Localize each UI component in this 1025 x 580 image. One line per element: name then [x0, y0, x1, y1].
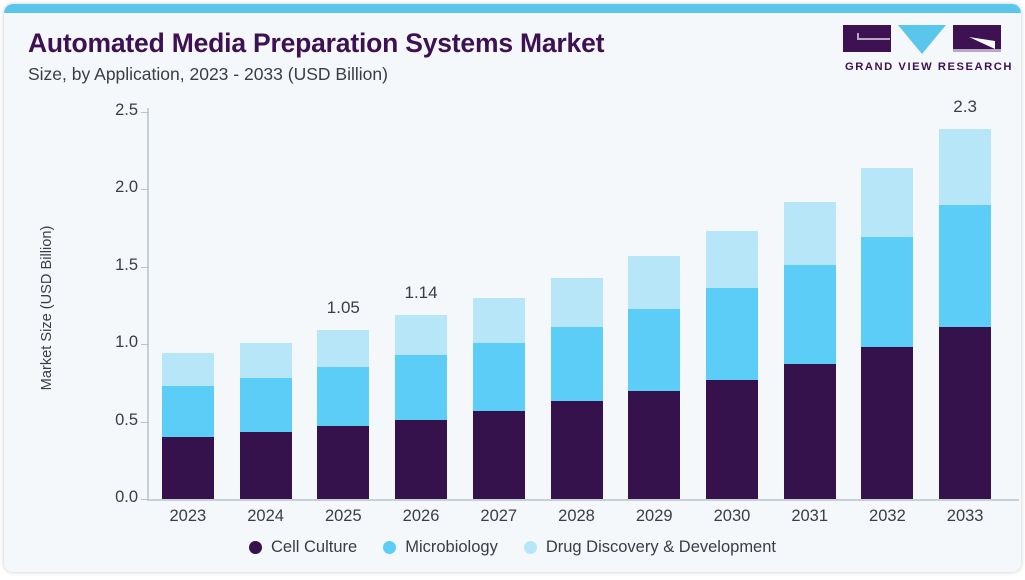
bar-group[interactable] [551, 112, 603, 499]
x-tick-label: 2023 [143, 507, 233, 526]
bar-segment[interactable] [317, 367, 369, 426]
bar-segment[interactable] [939, 327, 991, 499]
bar-segment[interactable] [395, 420, 447, 499]
bar-segment[interactable] [162, 386, 214, 437]
bar-group[interactable] [784, 112, 836, 499]
legend-swatch-icon [249, 541, 262, 554]
y-tick-mark [141, 344, 149, 345]
bar-segment[interactable] [551, 401, 603, 499]
x-tick-label: 2026 [376, 507, 466, 526]
bar-segment[interactable] [395, 355, 447, 420]
bar-segment[interactable] [784, 202, 836, 265]
bar-group[interactable] [162, 112, 214, 499]
legend-item[interactable]: Drug Discovery & Development [524, 538, 776, 557]
y-tick-mark [141, 189, 149, 190]
bar-segment[interactable] [473, 298, 525, 343]
y-axis-title: Market Size (USD Billion) [39, 193, 55, 423]
bar-segment[interactable] [939, 205, 991, 327]
bar-segment[interactable] [473, 343, 525, 411]
y-tick-mark [141, 499, 149, 500]
bar-group[interactable] [706, 112, 758, 499]
chart-legend: Cell CultureMicrobiologyDrug Discovery &… [4, 538, 1021, 557]
bar-segment[interactable] [861, 168, 913, 238]
x-tick-label: 2028 [532, 507, 622, 526]
y-tick-label: 2.5 [92, 101, 138, 120]
bar-group[interactable] [395, 112, 447, 499]
bar-segment[interactable] [861, 237, 913, 347]
bar-segment[interactable] [162, 437, 214, 499]
bar-segment[interactable] [162, 353, 214, 386]
bar-group[interactable] [939, 112, 991, 499]
legend-swatch-icon [383, 541, 396, 554]
bar-segment[interactable] [939, 129, 991, 205]
bar-segment[interactable] [628, 391, 680, 499]
x-tick-label: 2032 [842, 507, 932, 526]
bar-segment[interactable] [628, 256, 680, 309]
y-tick-mark [141, 267, 149, 268]
x-tick-label: 2031 [765, 507, 855, 526]
bar-segment[interactable] [473, 411, 525, 499]
bar-segment[interactable] [240, 378, 292, 432]
x-axis-line [147, 499, 1019, 501]
legend-swatch-icon [524, 541, 537, 554]
y-tick-label: 0.0 [92, 488, 138, 507]
bar-segment[interactable] [317, 330, 369, 367]
bar-segment[interactable] [395, 315, 447, 355]
bar-segment[interactable] [706, 288, 758, 379]
bar-value-label: 2.3 [920, 97, 1010, 117]
bar-segment[interactable] [861, 347, 913, 499]
bar-segment[interactable] [706, 380, 758, 499]
x-tick-label: 2025 [298, 507, 388, 526]
bar-segment[interactable] [628, 309, 680, 391]
bar-segment[interactable] [551, 327, 603, 401]
x-tick-label: 2024 [221, 507, 311, 526]
y-tick-label: 0.5 [92, 411, 138, 430]
legend-label: Cell Culture [271, 538, 357, 557]
bar-group[interactable] [861, 112, 913, 499]
bar-group[interactable] [473, 112, 525, 499]
chart-card: Automated Media Preparation Systems Mark… [4, 4, 1021, 572]
plot-area: Market Size (USD Billion) 0.00.51.01.52.… [4, 4, 1021, 572]
x-tick-label: 2029 [609, 507, 699, 526]
y-tick-mark [141, 112, 149, 113]
legend-item[interactable]: Cell Culture [249, 538, 357, 557]
legend-label: Drug Discovery & Development [546, 538, 776, 557]
bar-group[interactable] [628, 112, 680, 499]
bar-segment[interactable] [784, 364, 836, 499]
bar-segment[interactable] [706, 231, 758, 288]
y-tick-label: 2.0 [92, 178, 138, 197]
x-tick-label: 2027 [454, 507, 544, 526]
bar-segment[interactable] [551, 278, 603, 328]
y-tick-mark [141, 422, 149, 423]
y-tick-label: 1.0 [92, 333, 138, 352]
y-axis-line [147, 108, 149, 499]
bar-value-label: 1.14 [376, 283, 466, 303]
legend-item[interactable]: Microbiology [383, 538, 498, 557]
y-tick-label: 1.5 [92, 256, 138, 275]
bar-segment[interactable] [317, 426, 369, 499]
bar-segment[interactable] [240, 343, 292, 379]
x-tick-label: 2030 [687, 507, 777, 526]
x-tick-label: 2033 [920, 507, 1010, 526]
bar-segment[interactable] [784, 265, 836, 364]
bar-value-label: 1.05 [298, 298, 388, 318]
legend-label: Microbiology [405, 538, 498, 557]
bar-group[interactable] [240, 112, 292, 499]
bar-segment[interactable] [240, 432, 292, 499]
